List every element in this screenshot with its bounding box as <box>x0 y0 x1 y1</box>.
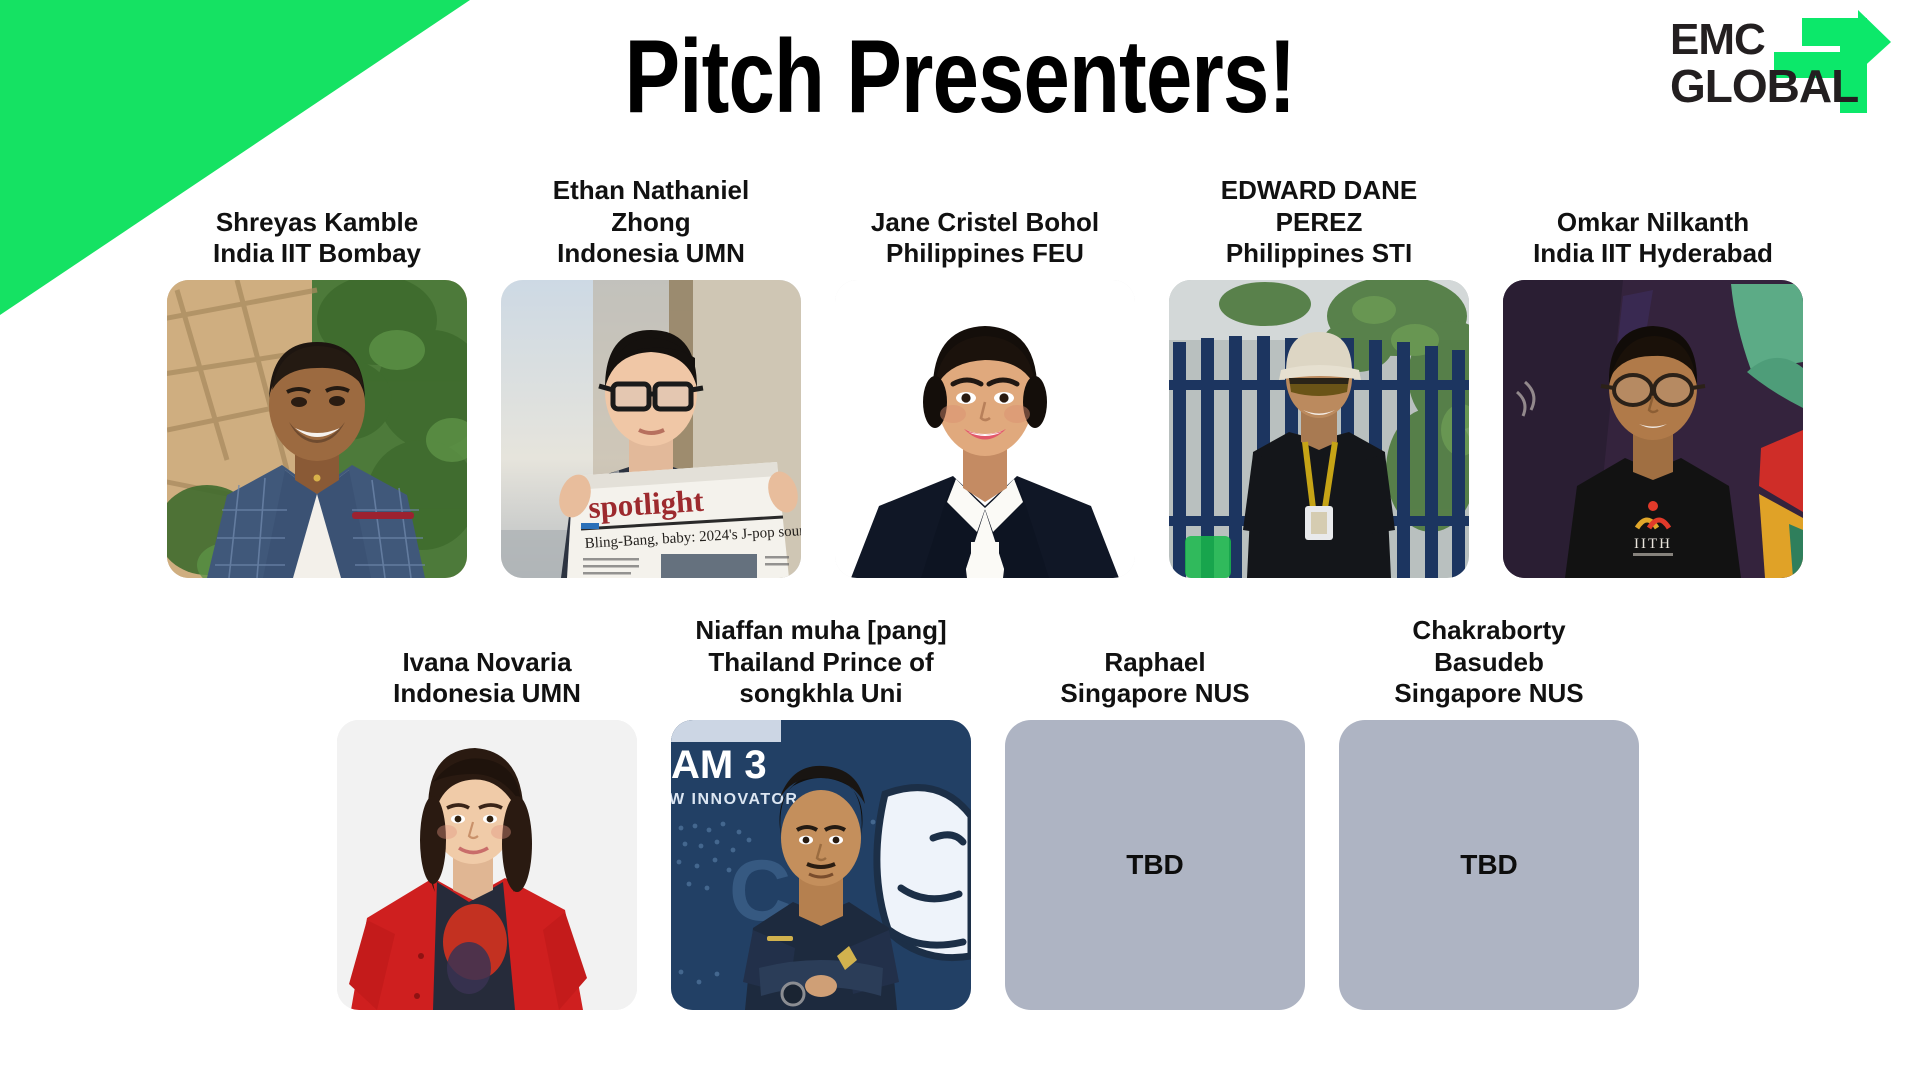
presenter-card[interactable]: EDWARD DANE PEREZ Philippines STI <box>1169 175 1469 578</box>
logo-text-global: GLOBAL <box>1670 60 1858 112</box>
svg-text:AM 3: AM 3 <box>671 743 767 787</box>
presenter-card[interactable]: Ivana Novaria Indonesia UMN <box>337 647 637 1010</box>
svg-text:W INNOVATOR: W INNOVATOR <box>671 791 798 808</box>
presenter-label: Chakraborty Basudeb Singapore NUS <box>1394 615 1583 710</box>
presenter-photo: IITH <box>1503 280 1803 578</box>
presenter-photo <box>167 280 467 578</box>
tbd-placeholder: TBD <box>1005 720 1305 1010</box>
presenter-label: Omkar Nilkanth India IIT Hyderabad <box>1533 207 1773 270</box>
presenter-card[interactable]: Omkar Nilkanth India IIT Hyderabad <box>1503 207 1803 578</box>
presenter-photo <box>337 720 637 1010</box>
tbd-label: TBD <box>1460 849 1518 881</box>
presenter-label: Shreyas Kamble India IIT Bombay <box>213 207 421 270</box>
presenter-photo: spotlight Bling-Bang, baby: 2024's J-pop… <box>501 280 801 578</box>
presenter-label: Jane Cristel Bohol Philippines FEU <box>871 207 1099 270</box>
tbd-placeholder: TBD <box>1339 720 1639 1010</box>
svg-text:IITH: IITH <box>1634 536 1672 552</box>
presenter-card[interactable]: Raphael Singapore NUS TBD <box>1005 647 1305 1010</box>
presenter-photo <box>835 280 1135 578</box>
presenter-label: EDWARD DANE PEREZ Philippines STI <box>1221 175 1417 270</box>
presenter-card[interactable]: Chakraborty Basudeb Singapore NUS TBD <box>1339 615 1639 1010</box>
emc-global-logo: EMC GLOBAL <box>1662 8 1892 118</box>
presenter-card[interactable]: Ethan Nathaniel Zhong Indonesia UMN <box>501 175 801 578</box>
page-title: Pitch Presenters! <box>192 22 1728 132</box>
tbd-label: TBD <box>1126 849 1184 881</box>
presenter-photo <box>1169 280 1469 578</box>
presentation-slide: Pitch Presenters! EMC GLOBAL Shreyas Kam… <box>0 0 1920 1080</box>
presenter-label: Raphael Singapore NUS <box>1060 647 1249 710</box>
presenter-label: Niaffan muha [pang] Thailand Prince of s… <box>695 615 946 710</box>
presenter-row-2: Ivana Novaria Indonesia UMN <box>320 615 1640 1010</box>
presenter-label: Ethan Nathaniel Zhong Indonesia UMN <box>553 175 749 270</box>
logo-text-emc: EMC <box>1670 15 1765 64</box>
presenter-card[interactable]: Jane Cristel Bohol Philippines FEU <box>835 207 1135 578</box>
presenter-photo: AM 3 W INNOVATOR <box>671 720 971 1010</box>
svg-text:spotlight: spotlight <box>587 483 705 525</box>
presenter-label: Ivana Novaria Indonesia UMN <box>393 647 581 710</box>
presenter-row-1: Shreyas Kamble India IIT Bombay <box>150 175 1790 578</box>
presenter-card[interactable]: Niaffan muha [pang] Thailand Prince of s… <box>671 615 971 1010</box>
presenter-card[interactable]: Shreyas Kamble India IIT Bombay <box>167 207 467 578</box>
